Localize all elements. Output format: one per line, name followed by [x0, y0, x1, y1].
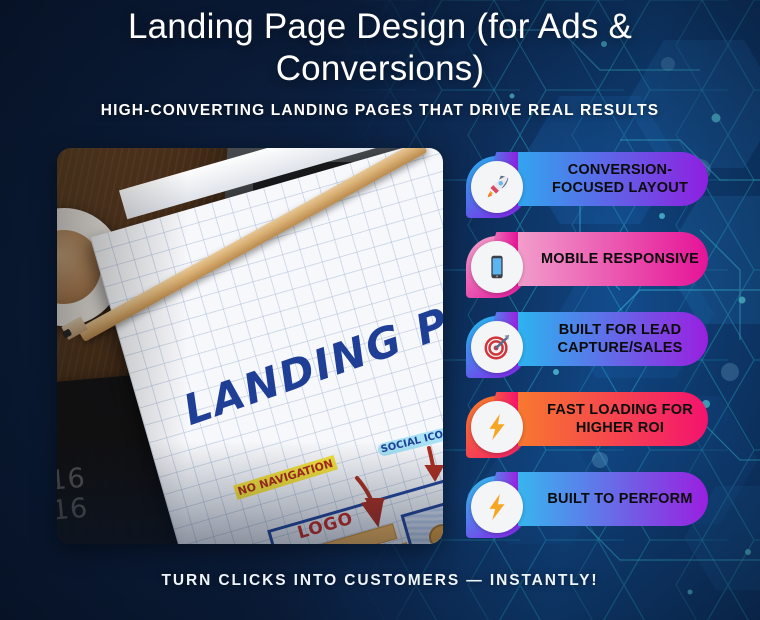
badge-icon-circle [471, 321, 523, 373]
badge-icon-circle [471, 481, 523, 533]
badge-icon-circle [471, 161, 523, 213]
badge-label: FAST LOADING FOR HIGHER ROI [536, 388, 704, 450]
landing-page-sketch-photo: 1616 LANDING PAGE [57, 148, 443, 544]
lightning-icon [482, 492, 512, 522]
badge-label: BUILT TO PERFORM [536, 468, 704, 530]
poster-canvas: Landing Page Design (for Ads & Conversio… [0, 0, 760, 620]
feature-badge[interactable]: BUILT FOR LEAD CAPTURE/SALES [458, 308, 708, 372]
footer-tagline: TURN CLICKS INTO CUSTOMERS — INSTANTLY! [0, 572, 760, 590]
header: Landing Page Design (for Ads & Conversio… [0, 6, 760, 120]
mobile-icon [482, 252, 512, 282]
page-subtitle: HIGH-CONVERTING LANDING PAGES THAT DRIVE… [0, 102, 760, 120]
badge-icon-circle [471, 401, 523, 453]
badge-label: CONVERSION-FOCUSED LAYOUT [536, 148, 704, 210]
badge-icon-circle [471, 241, 523, 293]
feature-badge[interactable]: FAST LOADING FOR HIGHER ROI [458, 388, 708, 452]
photo-shadow-bottom [57, 441, 443, 544]
rocket-icon [482, 172, 512, 202]
target-icon [482, 332, 512, 362]
badge-label: MOBILE RESPONSIVE [536, 228, 704, 290]
feature-badge[interactable]: BUILT TO PERFORM [458, 468, 708, 532]
feature-badge[interactable]: CONVERSION-FOCUSED LAYOUT [458, 148, 708, 212]
feature-badge-list: CONVERSION-FOCUSED LAYOUT MOBILE RESPONS… [458, 148, 708, 548]
lightning-icon [482, 412, 512, 442]
badge-label: BUILT FOR LEAD CAPTURE/SALES [536, 308, 704, 370]
feature-badge[interactable]: MOBILE RESPONSIVE [458, 228, 708, 292]
page-title: Landing Page Design (for Ads & Conversio… [0, 6, 760, 90]
